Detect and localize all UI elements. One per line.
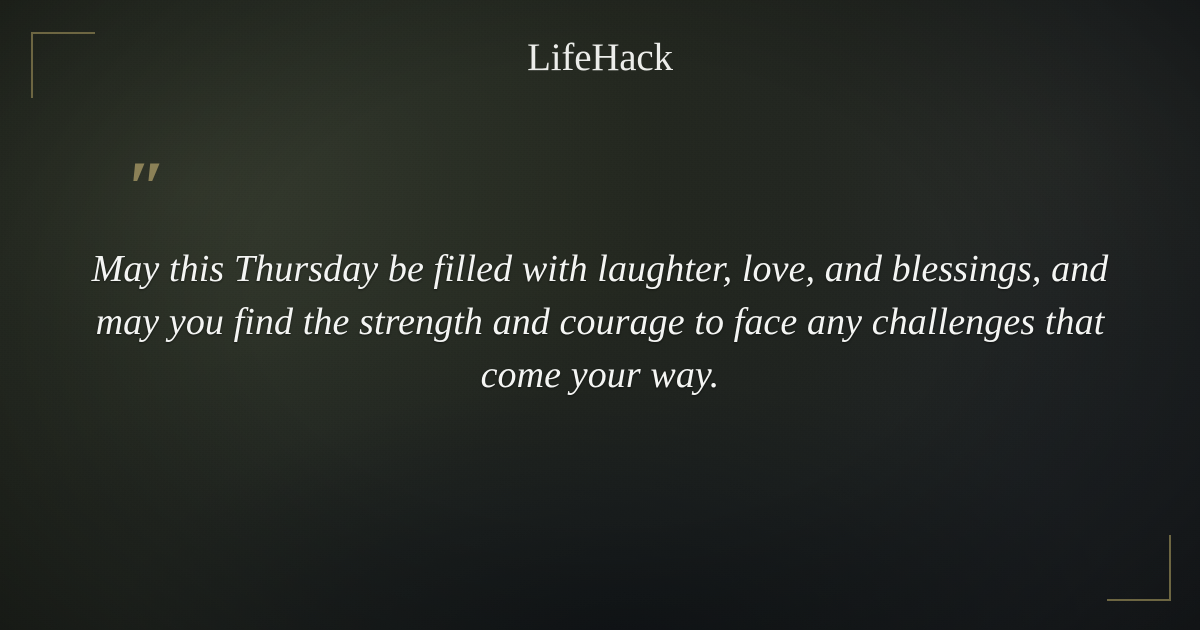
quote-card: LifeHack ″ May this Thursday be filled w… bbox=[0, 0, 1200, 630]
corner-bracket-bottom-right-icon bbox=[1107, 535, 1171, 601]
quotation-mark-icon: ″ bbox=[126, 151, 167, 225]
quote-text: May this Thursday be filled with laughte… bbox=[60, 243, 1140, 402]
brand-name: LifeHack bbox=[527, 38, 673, 77]
brand-logo: LifeHack bbox=[0, 38, 1200, 77]
quote-container: May this Thursday be filled with laughte… bbox=[60, 243, 1140, 402]
